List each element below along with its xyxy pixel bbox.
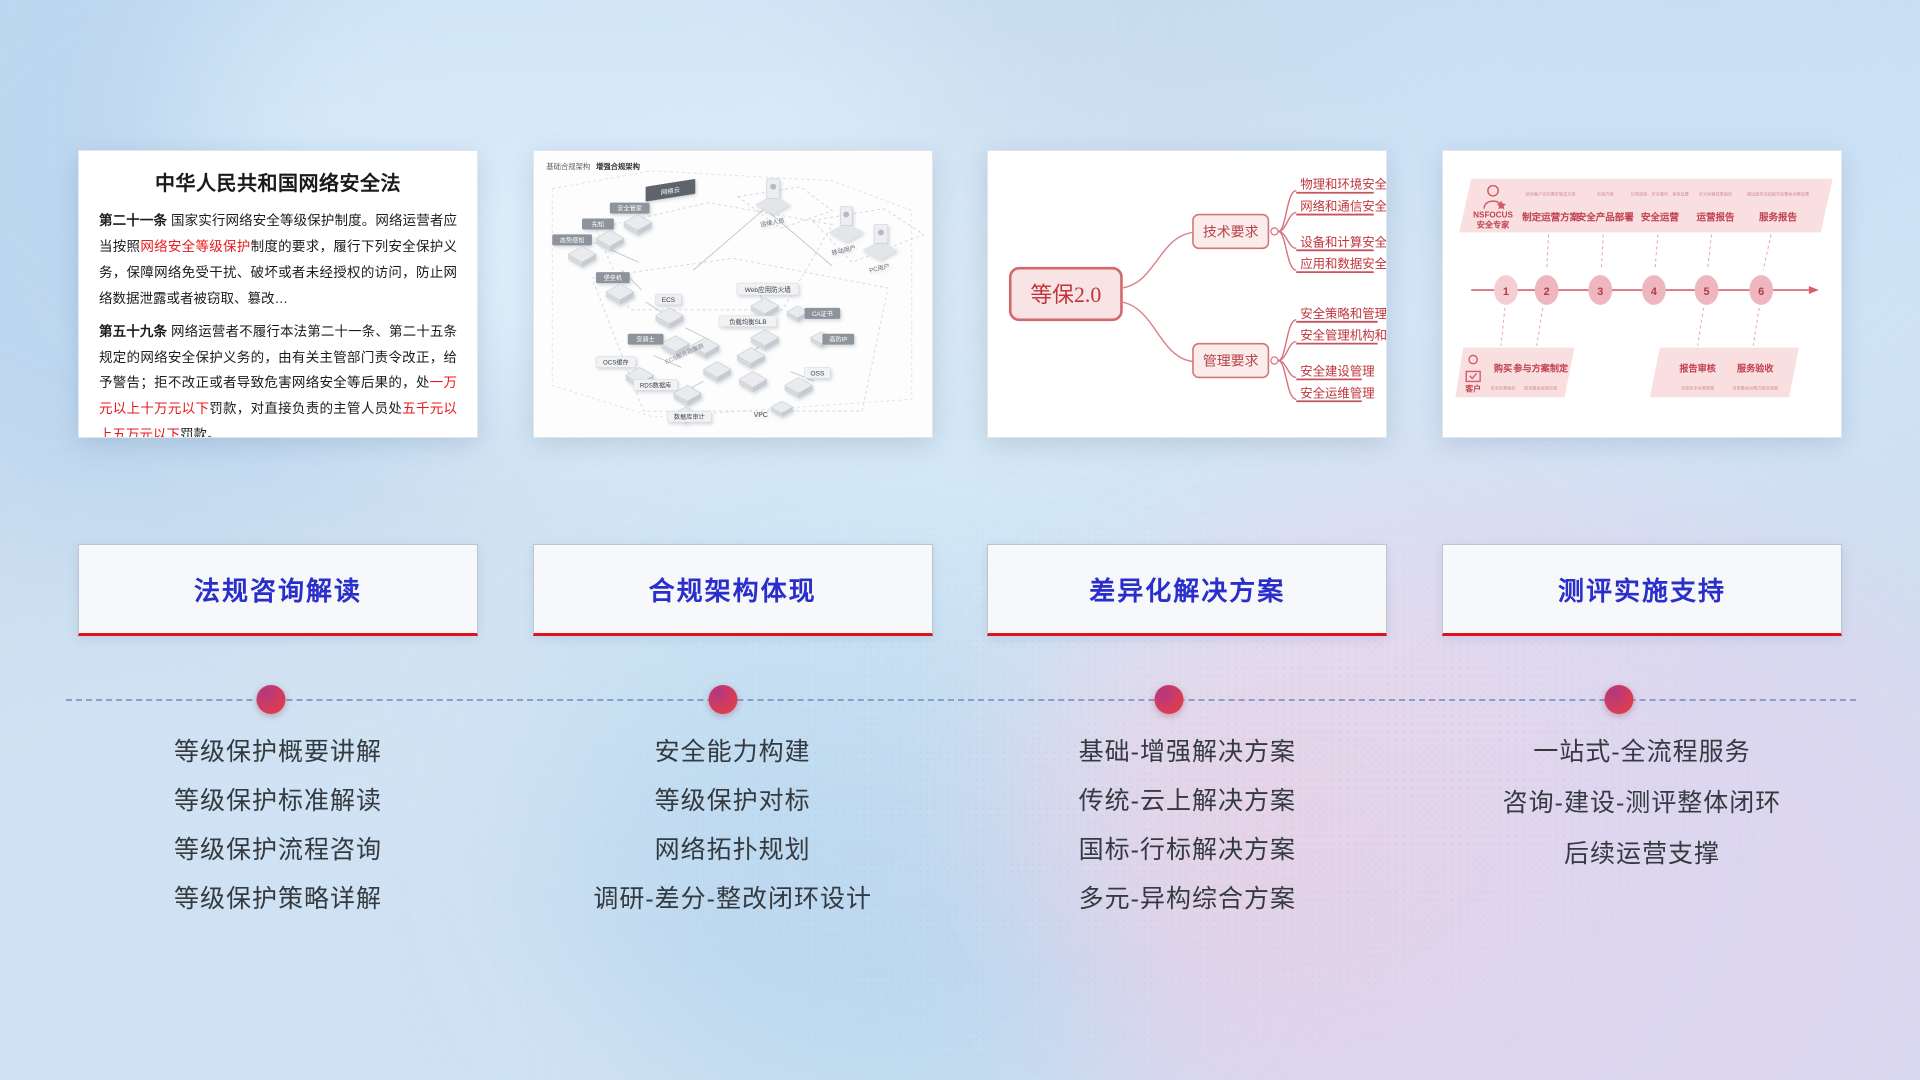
detail-item: 基础-增强解决方案 bbox=[1079, 740, 1296, 765]
detail-item: 多元-异构综合方案 bbox=[1079, 887, 1296, 912]
flow-top-caption-1: 实施方案 bbox=[1597, 191, 1614, 197]
flow-bottom-caption-2: 评审安全运营效果 bbox=[1681, 384, 1714, 390]
mindmap-leaf-0-3: 应用和数据安全 bbox=[1301, 256, 1387, 271]
detail-item: 国标-行标解决方案 bbox=[1079, 838, 1296, 863]
flow-top-caption-0: 结合客户实际需求制定方案 bbox=[1526, 191, 1577, 197]
detail-columns: 等级保护概要讲解 等级保护标准解读 等级保护流程咨询 等级保护策略详解 安全能力… bbox=[78, 740, 1842, 980]
flow-top-label-2: 安全运营 bbox=[1641, 212, 1680, 224]
arch-node-label-13: 高防IP bbox=[829, 336, 847, 344]
detail-item: 咨询-建设-测评整体闭环 bbox=[1503, 791, 1782, 816]
detail-item: 传统-云上解决方案 bbox=[1079, 789, 1296, 814]
flow-top-label-1: 安全产品部署 bbox=[1577, 212, 1635, 224]
headline-label-4: 测评实施支持 bbox=[1558, 571, 1726, 608]
detail-item: 网络拓扑规划 bbox=[655, 838, 811, 863]
law-article-21-label: 第二十一条 bbox=[99, 213, 167, 228]
flow-top-label-3: 运营报告 bbox=[1696, 212, 1735, 224]
law-article-21-highlight: 网络安全等级保护 bbox=[140, 239, 250, 254]
headline-label-2: 合规架构体现 bbox=[649, 571, 817, 608]
flow-marker-5: 6 bbox=[1758, 286, 1764, 298]
arch-node-label-5: ECS bbox=[661, 297, 675, 304]
flow-top-label-0: 制定运营方案 bbox=[1522, 212, 1580, 224]
flow-marker-1: 2 bbox=[1544, 286, 1550, 298]
arch-node-label-3: 态势感知 bbox=[559, 236, 584, 244]
detail-item: 等级保护流程咨询 bbox=[174, 838, 382, 863]
headline-box-1[interactable]: 法规咨询解读 bbox=[78, 544, 478, 636]
card-cloud-architecture: 基础合规架构 增强合规架构 bbox=[533, 150, 933, 438]
service-flow-diagram: NSFOCUS 安全专家 结合客户实际需求制定方案 制定运营方案 实施方案 安全… bbox=[1443, 151, 1841, 437]
detail-column-1: 等级保护概要讲解 等级保护标准解读 等级保护流程咨询 等级保护策略详解 bbox=[78, 740, 478, 980]
arch-node-label-8: RDS数据库 bbox=[640, 381, 671, 389]
flow-bottom-caption-1: 提供基本现状信息 bbox=[1524, 384, 1557, 390]
flow-bottom-label-1: 参与方案制定 bbox=[1513, 362, 1569, 373]
detail-item: 等级保护标准解读 bbox=[174, 789, 382, 814]
flow-marker-2: 3 bbox=[1597, 286, 1603, 298]
cloud-architecture-diagram: 基础合规架构 增强合规架构 bbox=[534, 151, 932, 437]
flow-marker-3: 4 bbox=[1651, 286, 1657, 298]
flow-bottom-label-2: 报告审核 bbox=[1679, 362, 1716, 373]
law-article-59: 第五十九条 网络运营者不履行本法第二十一条、第二十五条规定的网络安全保护义务的，… bbox=[99, 319, 457, 438]
flow-bottom-label-3: 服务验收 bbox=[1737, 362, 1774, 373]
flow-top-caption-4: 输出服务总结报告及整体运营效果 bbox=[1747, 191, 1809, 197]
illustration-card-row: 中华人民共和国网络安全法 第二十一条 国家实行网络安全等级保护制度。网络运营者应… bbox=[78, 150, 1842, 445]
detail-item: 等级保护策略详解 bbox=[174, 887, 382, 912]
detail-column-4: 一站式-全流程服务 咨询-建设-测评整体闭环 后续运营支撑 bbox=[1442, 740, 1842, 980]
arch-node-label-4: 堡垒机 bbox=[603, 274, 621, 282]
flow-expert-line1: NSFOCUS bbox=[1473, 211, 1513, 220]
timeline-dot-4[interactable] bbox=[1605, 685, 1634, 714]
arch-node-label-11: 负载均衡SLB bbox=[729, 317, 766, 326]
timeline-dot-1[interactable] bbox=[257, 685, 286, 714]
flow-bottom-caption-0: 安全运营服务 bbox=[1490, 384, 1515, 390]
arch-node-label-1: 安全管家 bbox=[617, 205, 642, 213]
detail-column-2: 安全能力构建 等级保护对标 网络拓扑规划 调研-差分-整改闭环设计 bbox=[533, 740, 933, 980]
flow-customer-label: 客户 bbox=[1464, 383, 1481, 393]
mindmap-leaf-1-1: 安全管理机构和人员 bbox=[1301, 328, 1387, 343]
card-cybersecurity-law: 中华人民共和国网络安全法 第二十一条 国家实行网络安全等级保护制度。网络运营者应… bbox=[78, 150, 478, 438]
mindmap-leaf-0-2: 设备和计算安全 bbox=[1301, 234, 1387, 249]
card-mindmap-dengbao: 等保2.0 技术要求 bbox=[987, 150, 1387, 438]
timeline-dot-3[interactable] bbox=[1155, 685, 1184, 714]
detail-item: 等级保护对标 bbox=[655, 789, 811, 814]
law-article-59-text-c: 罚款。 bbox=[180, 427, 221, 438]
law-article-59-label: 第五十九条 bbox=[99, 324, 167, 339]
detail-item: 调研-差分-整改闭环设计 bbox=[593, 887, 872, 912]
mindmap-root-node: 等保2.0 bbox=[1011, 268, 1122, 320]
headline-row: 法规咨询解读 合规架构体现 差异化解决方案 测评实施支持 bbox=[78, 544, 1842, 636]
headline-label-1: 法规咨询解读 bbox=[194, 571, 362, 608]
mindmap-diagram: 等保2.0 技术要求 bbox=[988, 151, 1386, 437]
arch-node-label-14: OSS bbox=[810, 370, 824, 377]
detail-column-3: 基础-增强解决方案 传统-云上解决方案 国标-行标解决方案 多元-异构综合方案 bbox=[987, 740, 1387, 980]
detail-item: 后续运营支撑 bbox=[1564, 842, 1720, 867]
mindmap-leaf-1-0: 安全策略和管理制度 bbox=[1301, 306, 1387, 321]
headline-label-3: 差异化解决方案 bbox=[1089, 571, 1285, 608]
flow-top-caption-3: 针对运营效果报告 bbox=[1699, 191, 1732, 197]
law-article-59-text-b: 罚款，对直接负责的主管人员处 bbox=[209, 401, 402, 416]
flow-top-caption-2: 日常巡检、安全事件、紧急处置 bbox=[1631, 191, 1689, 197]
headline-box-2[interactable]: 合规架构体现 bbox=[533, 544, 933, 636]
flow-bottom-caption-3: 评审整体运营方案及效果 bbox=[1732, 384, 1778, 390]
flow-marker-4: 5 bbox=[1703, 286, 1709, 298]
headline-box-3[interactable]: 差异化解决方案 bbox=[987, 544, 1387, 636]
architecture-tab-basic: 基础合规架构 bbox=[546, 162, 590, 171]
timeline-dashed-line bbox=[66, 699, 1856, 701]
mindmap-branch-title-0: 技术要求 bbox=[1203, 224, 1259, 240]
arch-node-label-10: Web应用防火墙 bbox=[744, 285, 791, 294]
architecture-tab-enhanced: 增强合规架构 bbox=[596, 162, 641, 171]
arch-node-label-6: 安骑士 bbox=[636, 336, 654, 344]
slide-stage: 中华人民共和国网络安全法 第二十一条 国家实行网络安全等级保护制度。网络运营者应… bbox=[0, 0, 1920, 1080]
flow-marker-0: 1 bbox=[1503, 286, 1509, 298]
mindmap-leaf-1-3: 安全运维管理 bbox=[1301, 385, 1375, 400]
detail-item: 等级保护概要讲解 bbox=[174, 740, 382, 765]
arch-node-label-2: 先知 bbox=[591, 220, 603, 228]
timeline-dot-2[interactable] bbox=[709, 685, 738, 714]
law-title: 中华人民共和国网络安全法 bbox=[99, 167, 457, 196]
flow-bottom-label-0: 购买 bbox=[1494, 362, 1512, 373]
headline-box-4[interactable]: 测评实施支持 bbox=[1442, 544, 1842, 636]
arch-node-label-12: CA证书 bbox=[812, 310, 833, 318]
detail-item: 一站式-全流程服务 bbox=[1533, 740, 1750, 765]
mindmap-branch-title-1: 管理要求 bbox=[1203, 354, 1259, 370]
mindmap-leaf-1-2: 安全建设管理 bbox=[1301, 363, 1375, 378]
flow-top-band bbox=[1459, 179, 1832, 233]
flow-top-label-4: 服务报告 bbox=[1759, 212, 1798, 224]
arch-node-label-7: OCS缓存 bbox=[603, 359, 629, 367]
mindmap-leaf-0-0: 物理和环境安全 bbox=[1301, 177, 1387, 192]
mindmap-leaf-0-1: 网络和通信安全 bbox=[1301, 199, 1387, 214]
mindmap-root-label: 等保2.0 bbox=[1031, 283, 1102, 307]
arch-node-label-9: 数据库审计 bbox=[674, 413, 705, 421]
detail-item: 安全能力构建 bbox=[655, 740, 811, 765]
flow-expert-line2: 安全专家 bbox=[1477, 219, 1510, 229]
timeline-rail bbox=[66, 697, 1856, 703]
arch-node-label-15: VPC bbox=[753, 412, 767, 419]
card-service-flow: NSFOCUS 安全专家 结合客户实际需求制定方案 制定运营方案 实施方案 安全… bbox=[1442, 150, 1842, 438]
law-article-21: 第二十一条 国家实行网络安全等级保护制度。网络运营者应当按照网络安全等级保护制度… bbox=[99, 208, 457, 312]
